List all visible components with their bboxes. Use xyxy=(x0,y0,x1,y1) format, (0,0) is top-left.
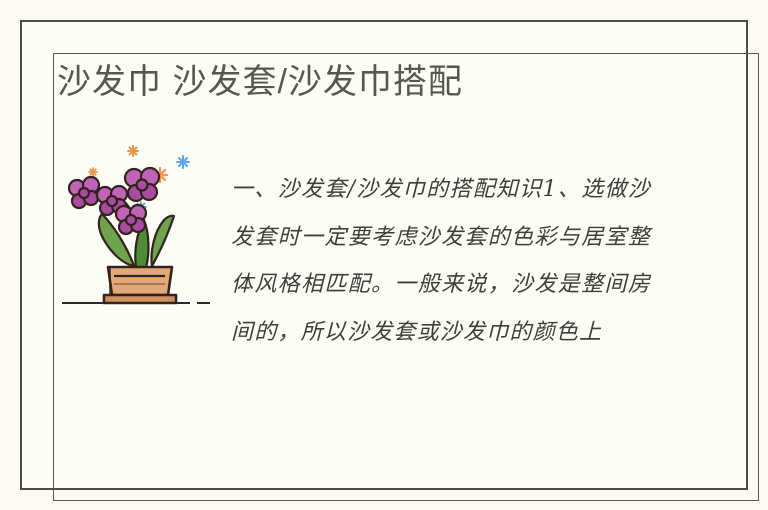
article-body-text: 一、沙发套/沙发巾的搭配知识1、选做沙发套时一定要考虑沙发套的色彩与居室整体风格… xyxy=(231,166,651,356)
pot-body xyxy=(108,267,172,295)
sparkle-orange-icon-1 xyxy=(128,146,138,156)
sparkle-orange-icon-2 xyxy=(89,168,97,176)
pot-base xyxy=(104,295,176,303)
blossom-3 xyxy=(116,205,146,234)
article-card-page: 沙发巾 沙发套/沙发巾搭配 xyxy=(0,0,768,510)
flower-pot xyxy=(104,267,176,303)
potted-orchid-illustration xyxy=(52,140,212,312)
blossom-1 xyxy=(69,177,99,208)
page-title: 沙发巾 沙发套/沙发巾搭配 xyxy=(57,59,697,105)
orchid-blossoms xyxy=(69,168,159,234)
sparkle-blue-icon-1 xyxy=(177,156,189,168)
blossom-4 xyxy=(125,168,159,201)
leaf-right xyxy=(152,216,175,266)
